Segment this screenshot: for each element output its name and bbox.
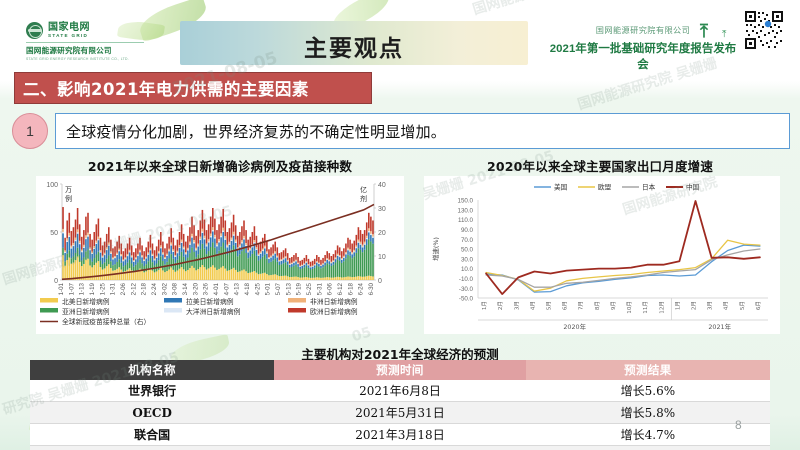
svg-text:90.0: 90.0 — [461, 227, 474, 234]
table-header-row: 机构名称 预测时间 预测结果 — [30, 360, 770, 380]
cell-institution: 联合国 — [30, 424, 274, 446]
meeting-info: 国网能源研究院有限公司 2021年第一批基础研究年度报告发布会 — [548, 24, 738, 72]
svg-text:3-02: 3-02 — [161, 282, 168, 295]
svg-text:6-30: 6-30 — [368, 282, 375, 295]
svg-text:拉美日新增病例: 拉美日新增病例 — [186, 297, 234, 306]
exports-chart-panel: -50.0-30.0-10.010.030.050.070.090.0110.0… — [424, 176, 780, 334]
cell-institution: IMF — [30, 446, 274, 450]
svg-text:2月: 2月 — [497, 301, 504, 310]
svg-text:大洋洲日新增病例: 大洋洲日新增病例 — [186, 307, 241, 316]
logo-company-en: STATE GRID — [48, 33, 90, 38]
svg-text:7月: 7月 — [578, 301, 585, 310]
svg-text:-30.0: -30.0 — [459, 286, 474, 293]
svg-text:1月: 1月 — [674, 301, 681, 310]
bird-icon: ⤒ — [700, 22, 708, 40]
svg-text:1-31: 1-31 — [110, 282, 117, 295]
svg-text:9月: 9月 — [610, 301, 617, 310]
svg-text:150.0: 150.0 — [458, 198, 474, 205]
svg-text:1-25: 1-25 — [99, 282, 106, 295]
svg-text:1-07: 1-07 — [68, 282, 75, 295]
svg-text:6-06: 6-06 — [327, 282, 334, 295]
svg-text:6月: 6月 — [755, 301, 762, 310]
table-row: OECD 2021年5月31日 增长5.8% — [30, 402, 770, 424]
svg-text:1月: 1月 — [481, 301, 488, 310]
svg-text:100: 100 — [46, 182, 58, 189]
cell-institution: 世界银行 — [30, 380, 274, 402]
page-number: 8 — [735, 418, 742, 432]
bullet-statement-text: 全球疫情分化加剧，世界经济复苏的不确定性明显增加。 — [56, 121, 446, 142]
svg-text:-50.0: -50.0 — [459, 296, 474, 303]
cell-result: 增长5.8% — [526, 402, 770, 424]
svg-text:10月: 10月 — [626, 301, 633, 314]
svg-text:例: 例 — [65, 194, 72, 203]
svg-text:30: 30 — [378, 206, 386, 213]
svg-text:5-25: 5-25 — [306, 282, 313, 295]
svg-text:10.0: 10.0 — [461, 266, 474, 273]
svg-text:6-12: 6-12 — [337, 282, 344, 295]
logo-institute-cn: 国网能源研究院有限公司 — [26, 45, 144, 56]
svg-text:3月: 3月 — [707, 301, 714, 310]
bird-small-icon: ⤒ — [722, 30, 726, 40]
svg-text:剂: 剂 — [360, 194, 367, 203]
svg-text:2-06: 2-06 — [120, 282, 127, 295]
bullet-number-badge: 1 — [12, 113, 48, 149]
cell-result: 增长6.0% — [526, 446, 770, 450]
svg-text:5月: 5月 — [546, 301, 553, 310]
svg-text:1-01: 1-01 — [58, 282, 65, 295]
svg-text:美国: 美国 — [554, 182, 568, 191]
page-title: 主要观点 — [180, 29, 528, 63]
svg-text:万: 万 — [65, 186, 72, 194]
exports-chart-svg: -50.0-30.0-10.010.030.050.070.090.0110.0… — [424, 176, 780, 334]
svg-text:2-24: 2-24 — [151, 282, 158, 295]
meeting-event: 2021年第一批基础研究年度报告发布会 — [548, 40, 738, 72]
svg-text:欧洲日新增病例: 欧洲日新增病例 — [310, 307, 358, 316]
svg-text:3月: 3月 — [513, 301, 520, 310]
cell-date: 2021年4月6日 — [274, 446, 526, 450]
covid-chart-svg: 050100万例010203040亿剂1-011-071-131-191-251… — [36, 176, 404, 334]
svg-text:5-13: 5-13 — [285, 282, 292, 295]
svg-text:5-31: 5-31 — [316, 282, 323, 295]
svg-text:亿: 亿 — [360, 185, 367, 194]
svg-text:6-24: 6-24 — [358, 282, 365, 295]
svg-text:欧盟: 欧盟 — [598, 182, 612, 191]
meeting-company: 国网能源研究院有限公司 — [548, 24, 738, 36]
logo-company-cn: 国家电网 — [48, 23, 90, 34]
slide-title-plate: 主要观点 — [180, 21, 528, 65]
svg-text:全球新冠疫苗接种总量（右）: 全球新冠疫苗接种总量（右） — [62, 317, 150, 326]
svg-text:3-08: 3-08 — [172, 282, 179, 295]
qr-code-icon[interactable] — [742, 8, 790, 56]
svg-text:4-13: 4-13 — [234, 282, 241, 295]
svg-text:0: 0 — [378, 278, 382, 285]
svg-text:中国: 中国 — [686, 182, 700, 191]
svg-text:6-18: 6-18 — [347, 282, 354, 295]
svg-text:12月: 12月 — [658, 301, 665, 314]
cell-date: 2021年3月18日 — [274, 424, 526, 446]
svg-text:5-19: 5-19 — [296, 282, 303, 295]
svg-text:4月: 4月 — [529, 301, 536, 310]
svg-text:2021年: 2021年 — [708, 322, 731, 331]
globe-icon — [26, 22, 43, 39]
svg-text:50: 50 — [50, 230, 58, 237]
svg-text:日本: 日本 — [642, 182, 656, 191]
svg-text:130.0: 130.0 — [458, 207, 474, 214]
svg-text:3-26: 3-26 — [203, 282, 210, 295]
logo-divider — [26, 42, 144, 43]
svg-text:4-25: 4-25 — [254, 282, 261, 295]
svg-text:5-01: 5-01 — [265, 282, 272, 295]
svg-text:6月: 6月 — [562, 301, 569, 310]
svg-text:4-01: 4-01 — [213, 282, 220, 295]
svg-text:增速(%): 增速(%) — [431, 237, 440, 261]
svg-text:2020年: 2020年 — [563, 322, 586, 331]
svg-text:非洲日新增病例: 非洲日新增病例 — [310, 297, 358, 306]
table-row: 世界银行 2021年6月8日 增长5.6% — [30, 380, 770, 402]
cell-date: 2021年5月31日 — [274, 402, 526, 424]
svg-text:5-07: 5-07 — [275, 282, 282, 295]
svg-text:5月: 5月 — [739, 301, 746, 310]
forecast-table: 机构名称 预测时间 预测结果 世界银行 2021年6月8日 增长5.6% OEC… — [30, 360, 770, 450]
covid-chart-panel: 050100万例010203040亿剂1-011-071-131-191-251… — [36, 176, 404, 334]
cell-result: 增长4.7% — [526, 424, 770, 446]
section-heading-bar: 二、影响2021年电力供需的主要因素 — [14, 72, 372, 104]
table-row: 联合国 2021年3月18日 增长4.7% — [30, 424, 770, 446]
svg-text:4月: 4月 — [723, 301, 730, 310]
svg-text:4-18: 4-18 — [244, 282, 251, 295]
col-header-result: 预测结果 — [526, 360, 770, 380]
svg-text:3-20: 3-20 — [192, 282, 199, 295]
logo-institute-en: STATE GRID ENERGY RESEARCH INSTITUTE CO.… — [26, 57, 144, 61]
section-heading-text: 二、影响2021年电力供需的主要因素 — [15, 76, 309, 100]
svg-text:40: 40 — [378, 182, 386, 189]
cell-date: 2021年6月8日 — [274, 380, 526, 402]
covid-chart-title: 2021年以来全球日新增确诊病例及疫苗接种数 — [36, 156, 404, 175]
svg-text:亚洲日新增病例: 亚洲日新增病例 — [62, 307, 110, 316]
svg-text:2月: 2月 — [691, 301, 698, 310]
cell-institution: OECD — [30, 402, 274, 424]
svg-text:20: 20 — [378, 230, 386, 237]
state-grid-logo: 国家电网 STATE GRID 国网能源研究院有限公司 STATE GRID E… — [26, 22, 144, 61]
col-header-institution: 机构名称 — [30, 360, 274, 380]
svg-text:2-12: 2-12 — [130, 282, 137, 295]
cell-result: 增长5.6% — [526, 380, 770, 402]
svg-text:110.0: 110.0 — [458, 217, 474, 224]
svg-text:1-13: 1-13 — [79, 282, 86, 295]
svg-text:11月: 11月 — [642, 301, 649, 314]
svg-text:2-18: 2-18 — [141, 282, 148, 295]
svg-text:70.0: 70.0 — [461, 237, 474, 244]
slide-canvas: 国家电网 STATE GRID 国网能源研究院有限公司 STATE GRID E… — [0, 0, 800, 450]
svg-text:-10.0: -10.0 — [459, 276, 474, 283]
svg-text:1-19: 1-19 — [89, 282, 96, 295]
svg-text:4-07: 4-07 — [223, 282, 230, 295]
svg-text:50.0: 50.0 — [461, 247, 474, 254]
svg-text:8月: 8月 — [594, 301, 601, 310]
table-row: IMF 2021年4月6日 增长6.0% — [30, 446, 770, 450]
bullet-statement-box: 全球疫情分化加剧，世界经济复苏的不确定性明显增加。 — [55, 113, 790, 149]
svg-text:3-14: 3-14 — [182, 282, 189, 295]
col-header-date: 预测时间 — [274, 360, 526, 380]
svg-text:30.0: 30.0 — [461, 256, 474, 263]
exports-chart-title: 2020年以来全球主要国家出口月度增速 — [420, 156, 780, 175]
svg-text:10: 10 — [378, 254, 386, 261]
svg-text:北美日新增病例: 北美日新增病例 — [62, 297, 110, 306]
